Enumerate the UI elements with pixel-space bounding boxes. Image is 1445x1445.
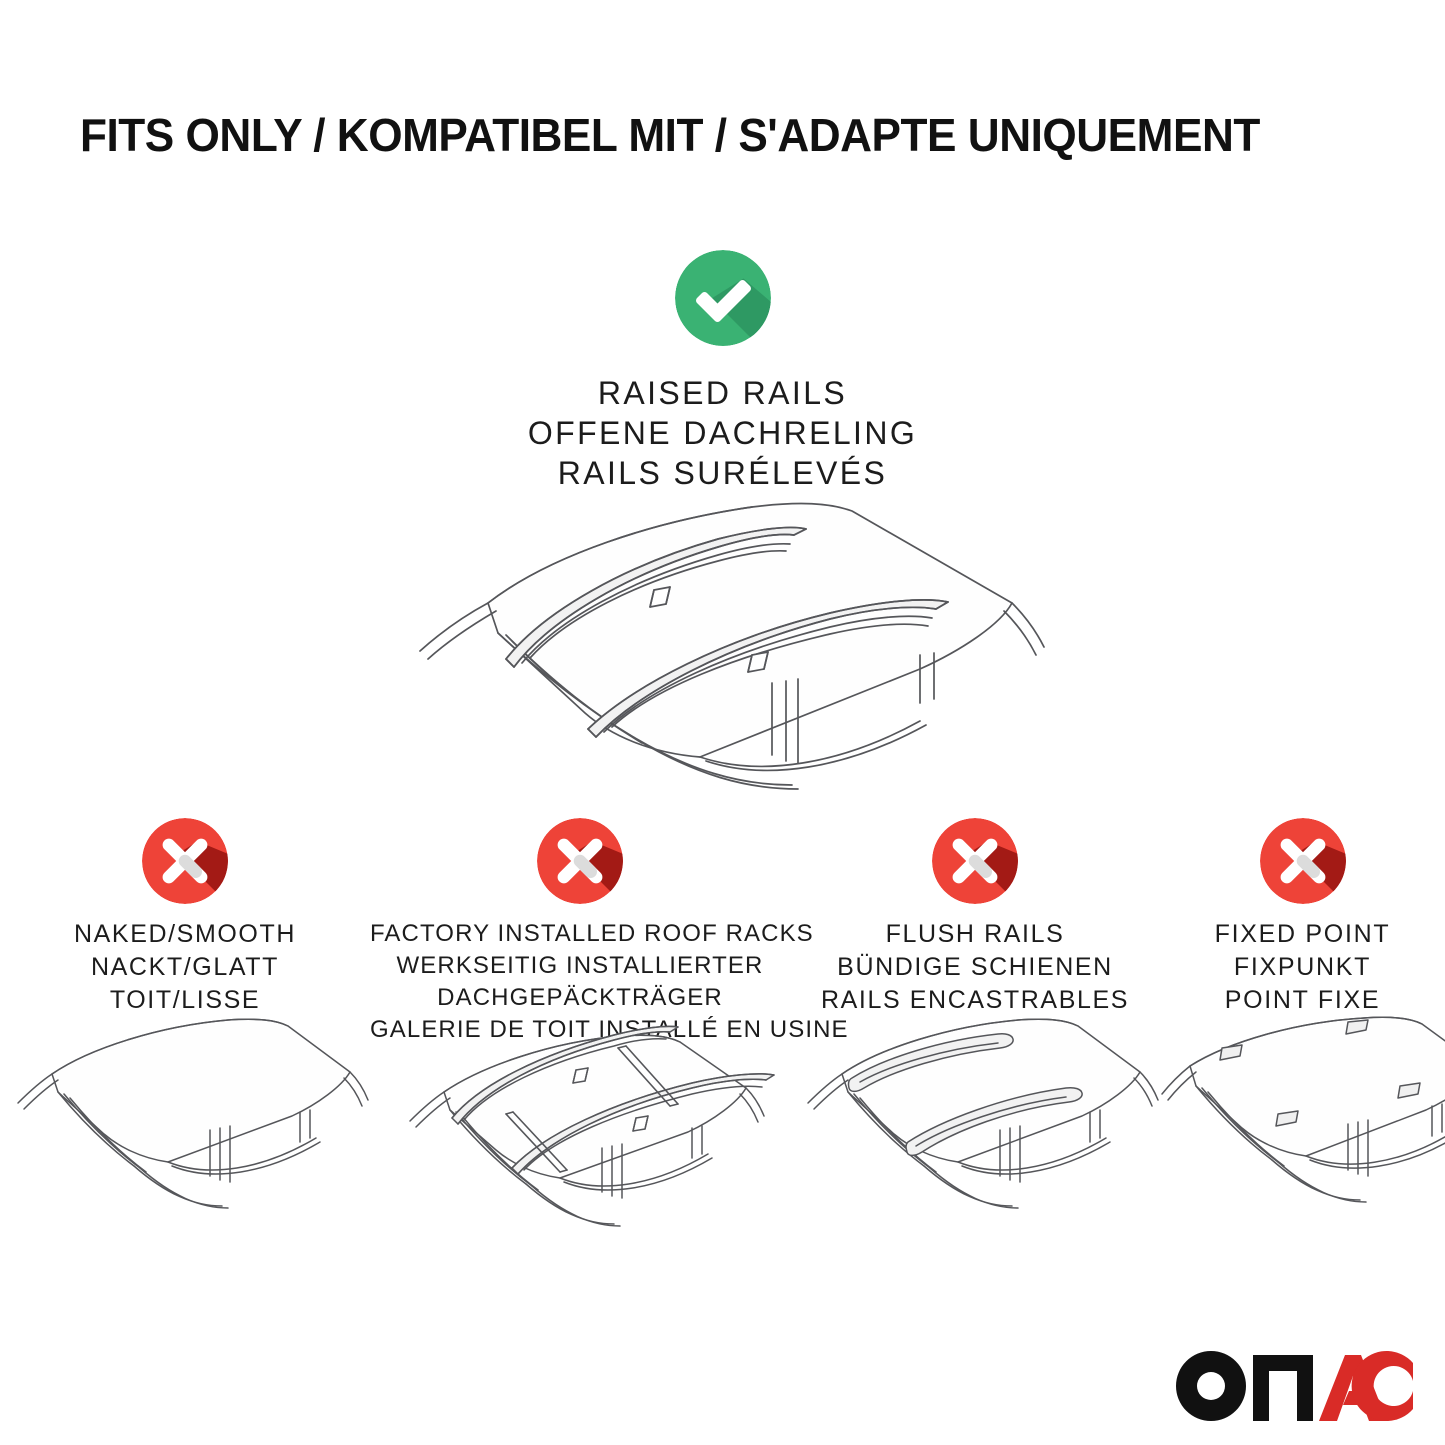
incompatible-label-en: FIXED POINT [1160,918,1445,951]
omac-logo [1173,1349,1413,1423]
incompatible-column-flush-rails: FLUSH RAILS BÜNDIGE SCHIENEN RAILS ENCAS… [790,818,1160,1318]
incompatible-labels: FIXED POINT FIXPUNKT POINT FIXE [1160,918,1445,1017]
logo-letter-m [1253,1355,1313,1421]
x-circle-icon [142,818,228,904]
incompatible-label-de: BÜNDIGE SCHIENEN [790,951,1160,984]
car-roof-raised-rails-illustration [400,485,1060,795]
compatible-section: RAISED RAILS OFFENE DACHRELING RAILS SUR… [0,250,1445,493]
page-title: FITS ONLY / KOMPATIBEL MIT / S'ADAPTE UN… [80,108,1328,162]
incompatible-column-factory-racks: FACTORY INSTALLED ROOF RACKS WERKSEITIG … [370,818,790,1318]
incompatible-label-en: NAKED/SMOOTH [0,918,370,951]
car-roof-factory-racks-illustration [370,996,790,1241]
x-circle-icon [932,818,1018,904]
incompatible-column-fixed-point: FIXED POINT FIXPUNKT POINT FIXE [1160,818,1445,1318]
incompatible-label-de: NACKT/GLATT [0,951,370,984]
car-roof-flush-rails-illustration [790,1008,1160,1238]
incompatible-labels: FLUSH RAILS BÜNDIGE SCHIENEN RAILS ENCAS… [790,918,1160,1017]
incompatible-labels: NAKED/SMOOTH NACKT/GLATT TOIT/LISSE [0,918,370,1017]
car-roof-fixed-point-illustration [1160,1008,1445,1238]
incompatible-label-en: FACTORY INSTALLED ROOF RACKS [370,918,790,950]
incompatible-label-de-1: WERKSEITIG INSTALLIERTER [370,950,790,982]
logo-letter-o [1176,1351,1246,1421]
compatible-label-en: RAISED RAILS [0,373,1445,413]
incompatible-label-de: FIXPUNKT [1160,951,1445,984]
compatible-label-de: OFFENE DACHRELING [0,413,1445,453]
incompatible-section: NAKED/SMOOTH NACKT/GLATT TOIT/LISSE [0,818,1445,1318]
incompatible-column-naked-smooth: NAKED/SMOOTH NACKT/GLATT TOIT/LISSE [0,818,370,1318]
check-circle-icon [675,250,771,346]
incompatible-label-en: FLUSH RAILS [790,918,1160,951]
car-roof-naked-illustration [0,1008,370,1238]
x-circle-icon [537,818,623,904]
compatible-labels: RAISED RAILS OFFENE DACHRELING RAILS SUR… [0,373,1445,493]
x-circle-icon [1260,818,1346,904]
